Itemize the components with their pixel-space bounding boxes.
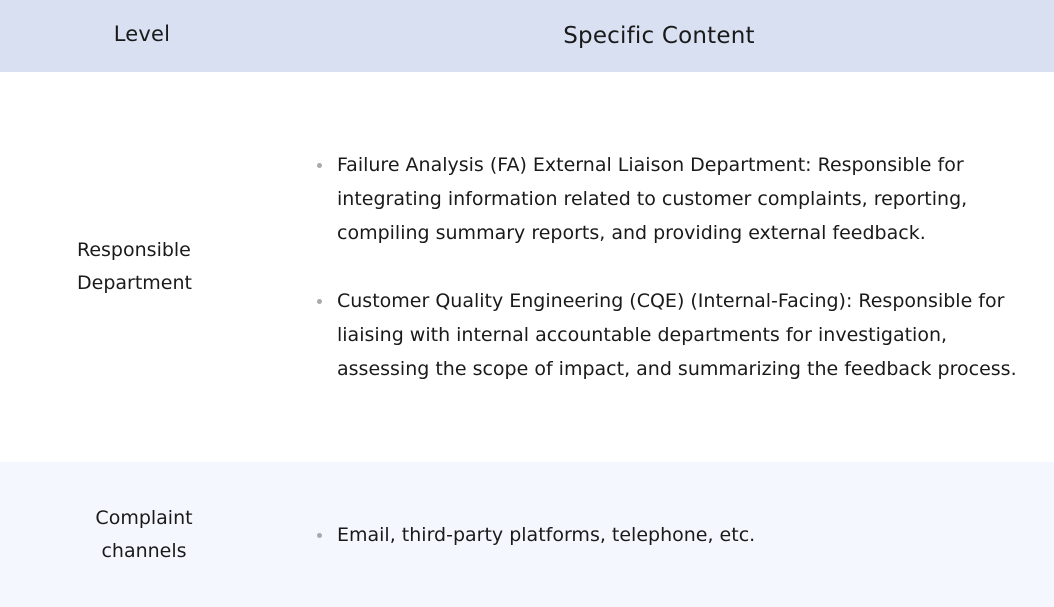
list-item: Failure Analysis (FA) External Liaison D…	[305, 148, 1026, 250]
row-level-label: Complaint channels	[0, 502, 284, 568]
list-item-text: Email, third-party platforms, telephone,…	[337, 518, 1026, 552]
table-row: Responsible Department Failure Analysis …	[0, 72, 1054, 462]
bullet-dot-icon	[317, 299, 322, 304]
column-header-specific-content: Specific Content	[284, 0, 1054, 72]
specific-content-table: Level Specific Content Responsible Depar…	[0, 0, 1054, 607]
row-content-cell-complaint-channels: Email, third-party platforms, telephone,…	[284, 462, 1054, 607]
list-item: Email, third-party platforms, telephone,…	[305, 518, 1026, 552]
table-row: Complaint channels Email, third-party pl…	[0, 462, 1054, 607]
column-header-specific-content-label: Specific Content	[563, 23, 755, 49]
bullet-dot-icon	[317, 163, 322, 168]
bullet-list: Failure Analysis (FA) External Liaison D…	[305, 148, 1026, 386]
column-header-level-label: Level	[114, 22, 170, 46]
bullet-dot-icon	[317, 533, 322, 538]
bullet-list: Email, third-party platforms, telephone,…	[305, 518, 1026, 552]
table-header-row: Level Specific Content	[0, 0, 1054, 72]
column-header-level: Level	[0, 0, 284, 72]
row-level-cell-responsible-department: Responsible Department	[0, 72, 284, 462]
list-item: Customer Quality Engineering (CQE) (Inte…	[305, 284, 1026, 386]
list-item-text: Customer Quality Engineering (CQE) (Inte…	[337, 284, 1026, 386]
row-level-label: Responsible Department	[0, 234, 284, 300]
list-item-text: Failure Analysis (FA) External Liaison D…	[337, 148, 1026, 250]
row-content-cell-responsible-department: Failure Analysis (FA) External Liaison D…	[284, 72, 1054, 462]
row-level-cell-complaint-channels: Complaint channels	[0, 462, 284, 607]
